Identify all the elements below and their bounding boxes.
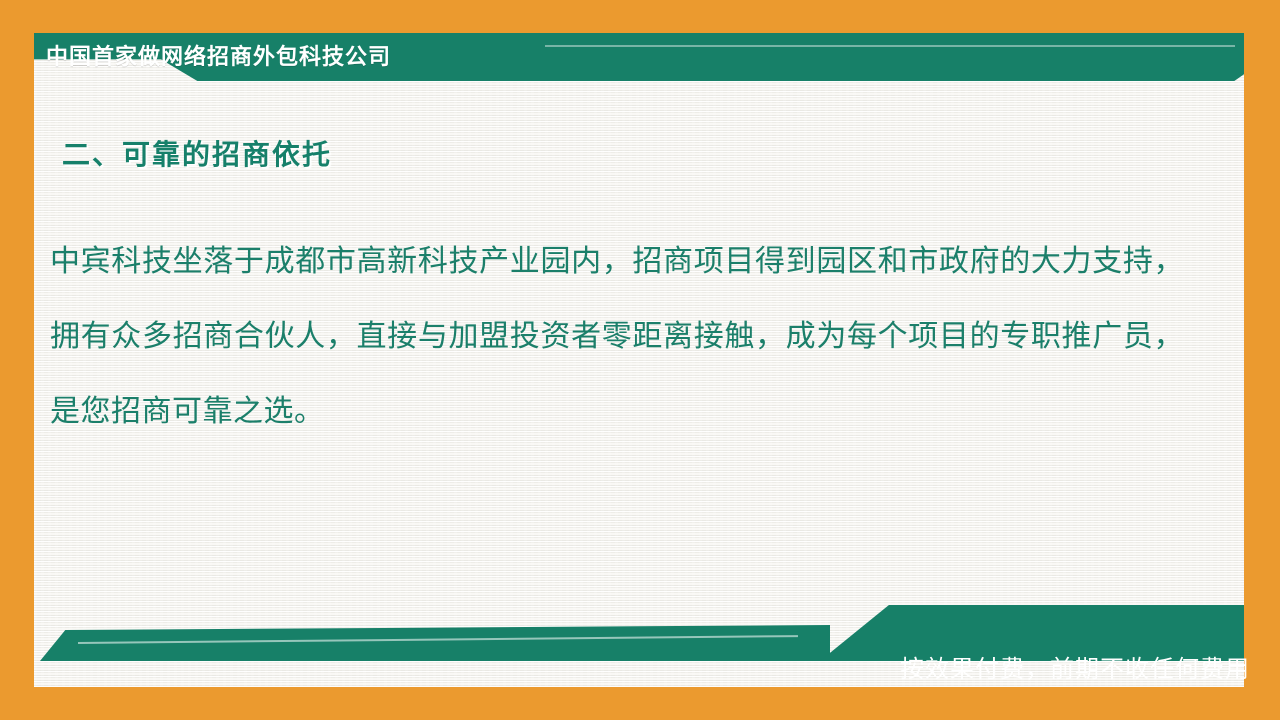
header-divider-line xyxy=(545,45,1235,47)
presentation-slide: 中国首家做网络招商外包科技公司 二、可靠的招商依托 中宾科技坐落于成都市高新科技… xyxy=(0,0,1280,720)
footer-tagline: 按效果付费，前期不收任何费用 xyxy=(900,649,1250,684)
header-title: 中国首家做网络招商外包科技公司 xyxy=(46,33,391,81)
body-paragraph: 中宾科技坐落于成都市高新科技产业园内，招商项目得到园区和市政府的大力支持，拥有众… xyxy=(50,224,1184,449)
section-heading: 二、可靠的招商依托 xyxy=(62,133,332,173)
